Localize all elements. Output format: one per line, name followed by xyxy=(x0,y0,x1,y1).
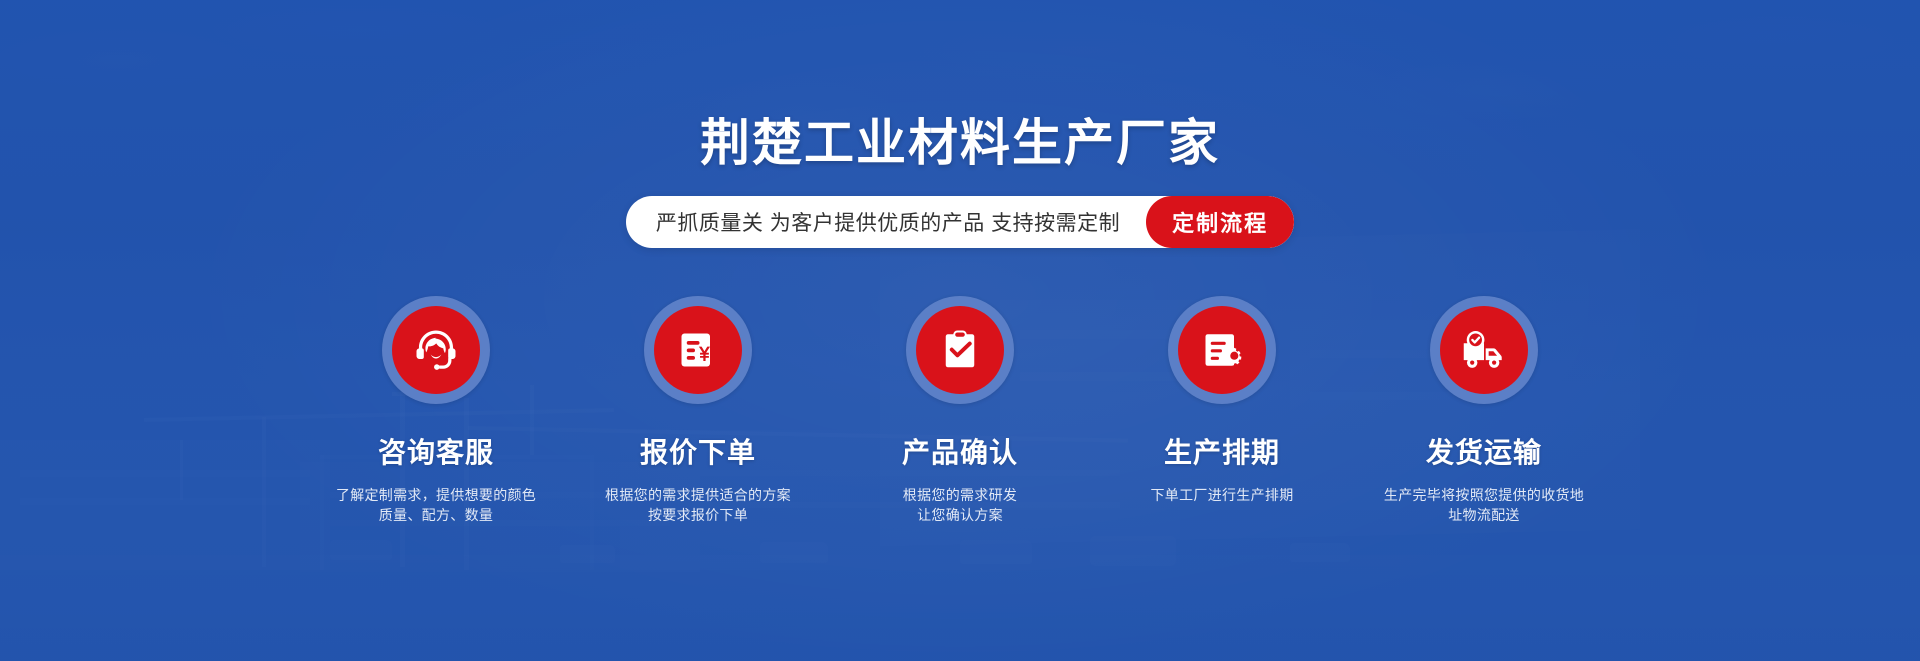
step-icon-disc xyxy=(392,306,480,394)
document-gear-schedule-icon xyxy=(1198,326,1246,374)
step-desc-line: 让您确认方案 xyxy=(903,505,1017,525)
step-description: 了解定制需求，提供想要的颜色 质量、配方、数量 xyxy=(336,485,536,525)
step-icon-ring xyxy=(644,296,752,404)
step-icon-ring xyxy=(1430,296,1538,404)
slogan-text: 严抓质量关 为客户提供优质的产品 支持按需定制 xyxy=(626,196,1146,248)
step-title: 产品确认 xyxy=(902,431,1018,471)
step-desc-line: 下单工厂进行生产排期 xyxy=(1151,485,1294,505)
step-desc-line: 根据您的需求提供适合的方案 xyxy=(605,485,791,505)
step-icon-ring xyxy=(906,296,1014,404)
invoice-yuan-quote-icon xyxy=(674,326,722,374)
process-step[interactable]: 报价下单 根据您的需求提供适合的方案 按要求报价下单 xyxy=(567,296,829,525)
step-desc-line: 址物流配送 xyxy=(1384,505,1584,525)
step-title: 生产排期 xyxy=(1164,431,1280,471)
step-description: 根据您的需求提供适合的方案 按要求报价下单 xyxy=(605,485,791,525)
process-step[interactable]: 生产排期 下单工厂进行生产排期 xyxy=(1091,296,1353,505)
process-step[interactable]: 咨询客服 了解定制需求，提供想要的颜色 质量、配方、数量 xyxy=(305,296,567,525)
step-icon-disc xyxy=(916,306,1004,394)
step-desc-line: 质量、配方、数量 xyxy=(336,505,536,525)
step-desc-line: 按要求报价下单 xyxy=(605,505,791,525)
step-icon-disc xyxy=(654,306,742,394)
step-title: 咨询客服 xyxy=(378,431,494,471)
banner-headline: 荆楚工业材料生产厂家 xyxy=(0,103,1920,175)
step-icon-disc xyxy=(1178,306,1266,394)
step-icon-ring xyxy=(382,296,490,404)
step-desc-line: 根据您的需求研发 xyxy=(903,485,1017,505)
step-icon-ring xyxy=(1168,296,1276,404)
step-desc-line: 了解定制需求，提供想要的颜色 xyxy=(336,485,536,505)
step-title: 发货运输 xyxy=(1426,431,1542,471)
step-title: 报价下单 xyxy=(640,431,756,471)
step-description: 生产完毕将按照您提供的收货地 址物流配送 xyxy=(1384,485,1584,525)
step-description: 下单工厂进行生产排期 xyxy=(1151,485,1294,505)
headset-customer-service-icon xyxy=(410,324,462,376)
slogan-pill: 严抓质量关 为客户提供优质的产品 支持按需定制 定制流程 xyxy=(626,196,1294,248)
step-description: 根据您的需求研发 让您确认方案 xyxy=(903,485,1017,525)
clipboard-check-icon xyxy=(936,326,984,374)
banner-content: 荆楚工业材料生产厂家 严抓质量关 为客户提供优质的产品 支持按需定制 定制流程 xyxy=(0,0,1920,661)
step-desc-line: 生产完毕将按照您提供的收货地 xyxy=(1384,485,1584,505)
custom-process-button[interactable]: 定制流程 xyxy=(1146,196,1294,248)
process-step[interactable]: 产品确认 根据您的需求研发 让您确认方案 xyxy=(829,296,1091,525)
process-step[interactable]: 发货运输 生产完毕将按照您提供的收货地 址物流配送 xyxy=(1353,296,1615,525)
step-icon-disc xyxy=(1440,306,1528,394)
delivery-truck-check-icon xyxy=(1457,323,1511,377)
process-steps: 咨询客服 了解定制需求，提供想要的颜色 质量、配方、数量 xyxy=(0,296,1920,525)
slogan-pill-wrapper: 严抓质量关 为客户提供优质的产品 支持按需定制 定制流程 xyxy=(0,196,1920,248)
promo-banner: 荆楚工业材料生产厂家 严抓质量关 为客户提供优质的产品 支持按需定制 定制流程 xyxy=(0,0,1920,661)
